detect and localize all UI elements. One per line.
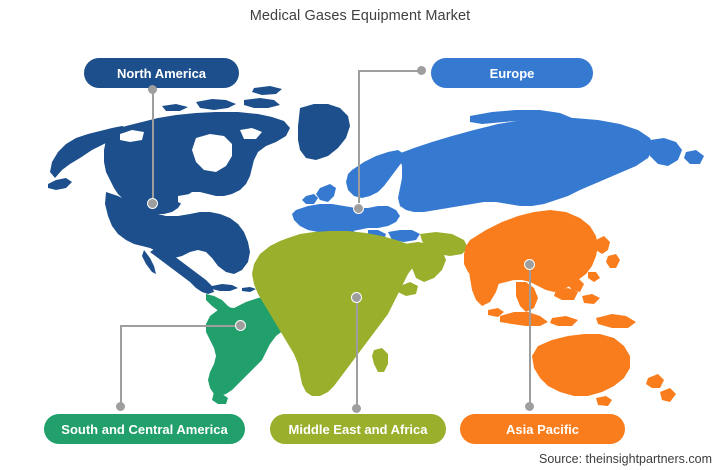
leader-anchor-middle-east-and-africa bbox=[352, 404, 361, 413]
leader-anchor-north-america bbox=[148, 85, 157, 94]
source-attribution: Source: theinsightpartners.com bbox=[539, 452, 712, 466]
region-label-europe[interactable]: Europe bbox=[431, 58, 593, 88]
map-marker-north-america[interactable] bbox=[147, 198, 158, 209]
map-region-middle-east-and-africa[interactable] bbox=[252, 231, 468, 396]
leader-anchor-europe bbox=[417, 66, 426, 75]
leader-line-middle-east-and-africa bbox=[356, 297, 358, 409]
leader-line-europe-horizontal bbox=[359, 70, 422, 72]
leader-line-north-america bbox=[152, 88, 154, 205]
map-marker-europe[interactable] bbox=[353, 203, 364, 214]
leader-anchor-asia-pacific bbox=[525, 402, 534, 411]
market-map-infographic: Medical Gases Equipment Market bbox=[0, 0, 720, 470]
leader-line-south-america-vertical bbox=[120, 325, 122, 407]
region-label-asia-pacific[interactable]: Asia Pacific bbox=[460, 414, 625, 444]
region-label-north-america[interactable]: North America bbox=[84, 58, 239, 88]
map-marker-south-and-central-america[interactable] bbox=[235, 320, 246, 331]
map-marker-middle-east-and-africa[interactable] bbox=[351, 292, 362, 303]
region-label-south-and-central-america[interactable]: South and Central America bbox=[44, 414, 245, 444]
leader-line-south-america-horizontal bbox=[120, 325, 241, 327]
leader-anchor-south-and-central-america bbox=[116, 402, 125, 411]
map-marker-asia-pacific[interactable] bbox=[524, 259, 535, 270]
region-label-middle-east-and-africa[interactable]: Middle East and Africa bbox=[270, 414, 446, 444]
map-region-asia-pacific[interactable] bbox=[464, 210, 676, 406]
leader-line-asia-pacific bbox=[529, 264, 531, 407]
leader-line-europe-vertical bbox=[358, 70, 360, 208]
